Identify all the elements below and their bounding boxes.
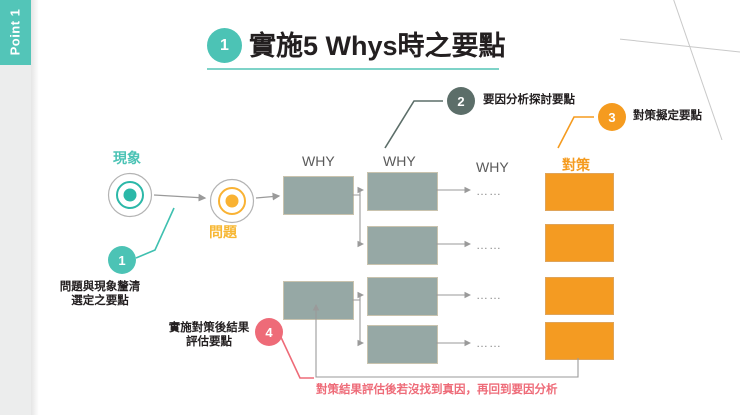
why3-ellipsis-2: …… <box>476 238 502 252</box>
callout-label-4-line2: 評估要點 <box>161 335 257 349</box>
point-tab-label: Point 1 <box>8 0 24 65</box>
arrow-problem-to-why1 <box>256 196 279 198</box>
why-header-1: WHY <box>302 153 335 169</box>
why1-box-2[interactable] <box>283 281 354 320</box>
callout-badge-1[interactable]: 1 <box>108 246 136 274</box>
callout-badge-2[interactable]: 2 <box>447 87 475 115</box>
countermeasure-box-3[interactable] <box>545 277 614 315</box>
arrow-phenomenon-to-problem <box>154 195 205 198</box>
callout-badge-4[interactable]: 4 <box>255 318 283 346</box>
callout-badge-3[interactable]: 3 <box>598 103 626 131</box>
why3-ellipsis-4: …… <box>476 336 502 350</box>
why-header-2: WHY <box>383 153 416 169</box>
why1-box-1[interactable] <box>283 176 354 215</box>
leader-line-4 <box>279 333 314 378</box>
leader-line-3 <box>558 117 594 148</box>
branch-why1-2-b <box>360 300 363 343</box>
why2-box-3[interactable] <box>367 277 438 316</box>
callout-label-1: 問題與現象釐清 選定之要點 <box>50 280 150 308</box>
why-header-3: WHY <box>476 159 509 175</box>
callout-label-4-line1: 實施對策後結果 <box>161 321 257 335</box>
callout-label-1-line1: 問題與現象釐清 <box>50 280 150 294</box>
why2-box-2[interactable] <box>367 226 438 265</box>
why3-ellipsis-3: …… <box>476 288 502 302</box>
leader-line-2 <box>385 101 443 148</box>
callout-label-4: 實施對策後結果 評估要點 <box>161 321 257 349</box>
problem-label: 問題 <box>209 222 237 242</box>
target-icon-orange <box>209 178 255 224</box>
page-title: 實施5 Whys時之要點 <box>249 24 506 63</box>
countermeasure-box-4[interactable] <box>545 322 614 360</box>
callout-label-3: 對策擬定要點 <box>633 109 702 123</box>
why2-box-4[interactable] <box>367 325 438 364</box>
problem-node[interactable] <box>209 178 255 224</box>
callout-label-2: 要因分析探討要點 <box>483 93 575 107</box>
phenomenon-node[interactable] <box>107 172 153 218</box>
countermeasure-box-2[interactable] <box>545 224 614 262</box>
callout-label-1-line2: 選定之要點 <box>50 294 150 308</box>
title-badge: 1 <box>207 28 242 63</box>
rail-shadow <box>31 0 39 415</box>
title-underline <box>207 68 499 70</box>
feedback-note: 對策結果評估後若沒找到真因，再回到要因分析 <box>316 381 558 397</box>
why2-box-1[interactable] <box>367 172 438 211</box>
why3-ellipsis-1: …… <box>476 184 502 198</box>
point-tab[interactable]: Point 1 <box>0 0 31 65</box>
feedback-loop-path <box>316 305 578 377</box>
branch-why1-1-b <box>360 195 363 244</box>
countermeasure-box-1[interactable] <box>545 173 614 211</box>
target-icon-teal <box>107 172 153 218</box>
slide-canvas: Point 1 1 實施5 Whys時之要點 2 要因分析探討要點 3 對策擬定… <box>0 0 740 415</box>
countermeasure-column-label: 對策 <box>562 155 590 175</box>
phenomenon-label: 現象 <box>113 148 141 168</box>
